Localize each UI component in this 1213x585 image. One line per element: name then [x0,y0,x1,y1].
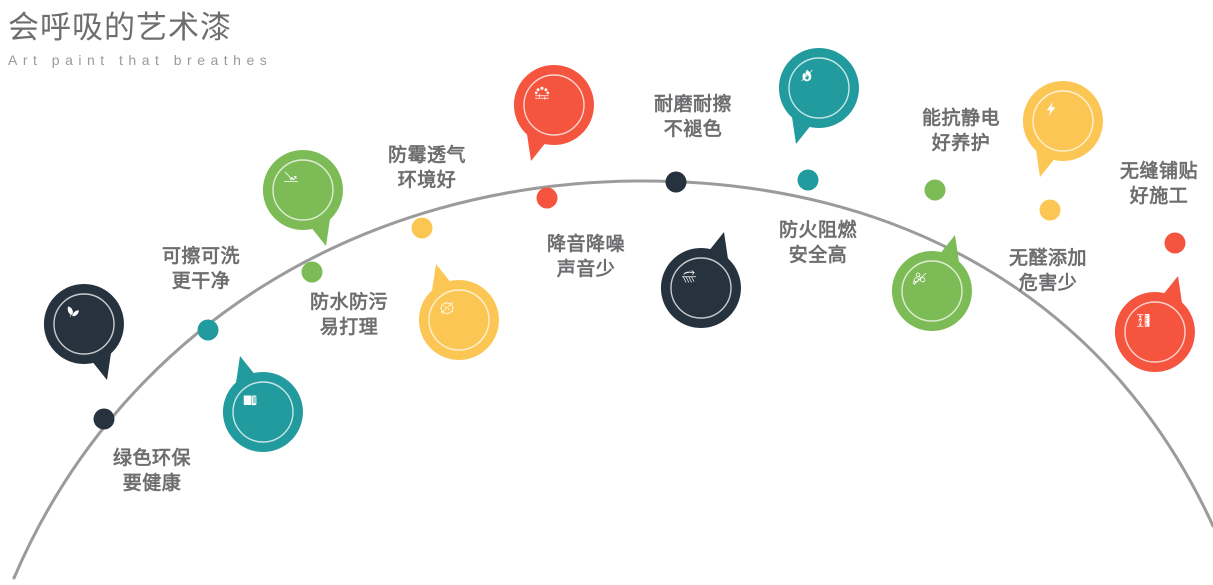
feature-pin-1[interactable] [37,277,131,371]
feature-label-4: 防水防污易打理 [310,290,388,340]
wipe-clean-icon [244,396,257,406]
feature-label-line1: 绿色环保 [113,446,191,471]
pin-body [263,150,343,246]
pin-body [223,356,303,452]
feature-label-line2: 更干净 [162,269,240,294]
feature-pin-9[interactable] [1016,74,1110,168]
feature-label-1: 绿色环保要健康 [113,446,191,496]
timeline-dot-1[interactable] [94,409,115,430]
pin-body [1023,81,1103,177]
feature-pin-3[interactable] [256,143,350,237]
pin-body [419,264,499,360]
pin-body [44,284,124,380]
timeline-dot-6[interactable] [666,172,687,193]
feature-label-line1: 防霉透气 [388,143,466,168]
feature-label-line1: 无醛添加 [1009,246,1087,271]
timeline-dot-7[interactable] [798,170,819,191]
feature-label-6: 耐磨耐擦不褪色 [654,92,732,142]
feature-pin-8[interactable] [885,244,979,338]
timeline-dot-10[interactable] [1165,233,1186,254]
feature-label-8: 能抗静电好养护 [922,106,1000,156]
feature-label-3: 防霉透气环境好 [388,143,466,193]
feature-label-2: 可擦可洗更干净 [162,244,240,294]
feature-label-line1: 防火阻燃 [779,218,857,243]
feature-pin-6[interactable] [654,241,748,335]
feature-label-line2: 环境好 [388,168,466,193]
feature-label-line1: 防水防污 [310,290,388,315]
feature-pin-4[interactable] [412,273,506,367]
feature-label-line2: 危害少 [1009,271,1087,296]
feature-label-7: 防火阻燃安全高 [779,218,857,268]
feature-label-line1: 可擦可洗 [162,244,240,269]
pin-body [1115,276,1195,372]
pin-body [779,48,859,144]
infographic-canvas: 会呼吸的艺术漆 Art paint that breathes 绿色环保要健康 [0,0,1213,585]
feature-label-line1: 能抗静电 [922,106,1000,131]
feature-label-line2: 易打理 [310,315,388,340]
svg-text:H: H [1139,318,1143,324]
feature-label-line2: 不褪色 [654,117,732,142]
timeline-dot-9[interactable] [1040,200,1061,221]
feature-pin-10[interactable]: H [1108,285,1202,379]
feature-label-line1: 无缝铺贴 [1120,159,1198,184]
timeline-dot-5[interactable] [537,188,558,209]
feature-label-line2: 好养护 [922,131,1000,156]
feature-label-10: 无缝铺贴好施工 [1120,159,1198,209]
feature-label-line2: 好施工 [1120,184,1198,209]
timeline-dot-2[interactable] [198,320,219,341]
feature-pin-7[interactable] [772,41,866,135]
pin-body [661,232,741,328]
timeline-dot-4[interactable] [412,218,433,239]
feature-label-line2: 安全高 [779,243,857,268]
feature-label-9: 无醛添加危害少 [1009,246,1087,296]
feature-label-5: 降音降噪声音少 [547,232,625,282]
feature-label-line2: 声音少 [547,257,625,282]
feature-label-line1: 耐磨耐擦 [654,92,732,117]
feature-label-line1: 降音降噪 [547,232,625,257]
timeline-dot-3[interactable] [302,262,323,283]
feature-label-line2: 要健康 [113,471,191,496]
timeline-dot-8[interactable] [925,180,946,201]
pin-body [892,235,972,331]
pin-body [514,65,594,161]
feature-pin-2[interactable] [216,365,310,459]
feature-pin-5[interactable] [507,58,601,152]
